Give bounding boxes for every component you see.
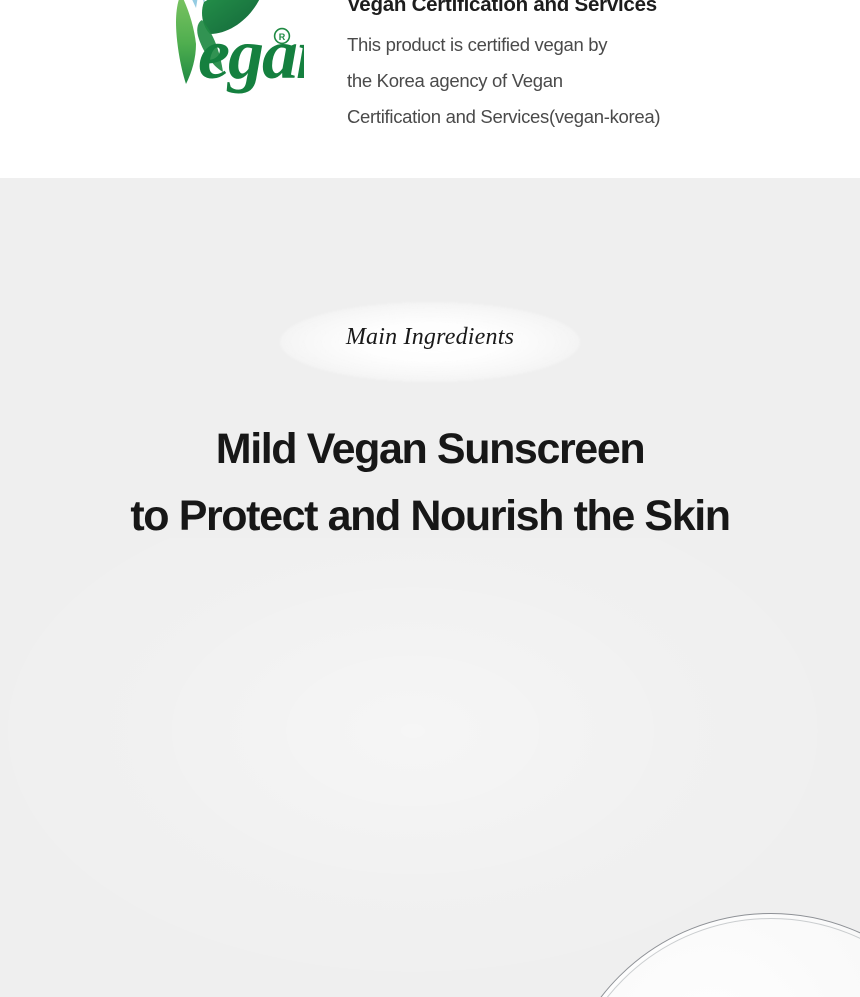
vegan-certification-band: egan R Vegan Certification and Services … (0, 0, 860, 178)
logo-wordmark: egan (198, 14, 304, 94)
svg-text:R: R (279, 32, 286, 42)
certification-title: Vegan Certification and Services (347, 0, 817, 24)
certification-description-line-3: Certification and Services(vegan-korea) (347, 99, 817, 135)
petri-dish (556, 913, 860, 997)
certification-copy: Vegan Certification and Services This pr… (347, 0, 817, 135)
product-detail-page: egan R Vegan Certification and Services … (0, 0, 860, 997)
petri-dish-inner-rim (561, 918, 860, 997)
vegan-certification-logo: egan R (84, 0, 304, 144)
eyebrow-label: Main Ingredients (0, 324, 860, 351)
certification-description-line-2: the Korea agency of Vegan (347, 63, 817, 99)
headline-line-1: Mild Vegan Sunscreen (0, 416, 860, 483)
certification-description: This product is certified vegan by the K… (347, 27, 817, 135)
main-ingredients-section: Main Ingredients Mild Vegan Sunscreen to… (0, 178, 860, 997)
eyebrow-badge: Main Ingredients (0, 302, 860, 382)
ingredients-imagery (0, 538, 860, 997)
svg-text:egan: egan (198, 14, 304, 94)
certification-description-line-1: This product is certified vegan by (347, 27, 817, 63)
page-title: Mild Vegan Sunscreen to Protect and Nour… (0, 416, 860, 550)
